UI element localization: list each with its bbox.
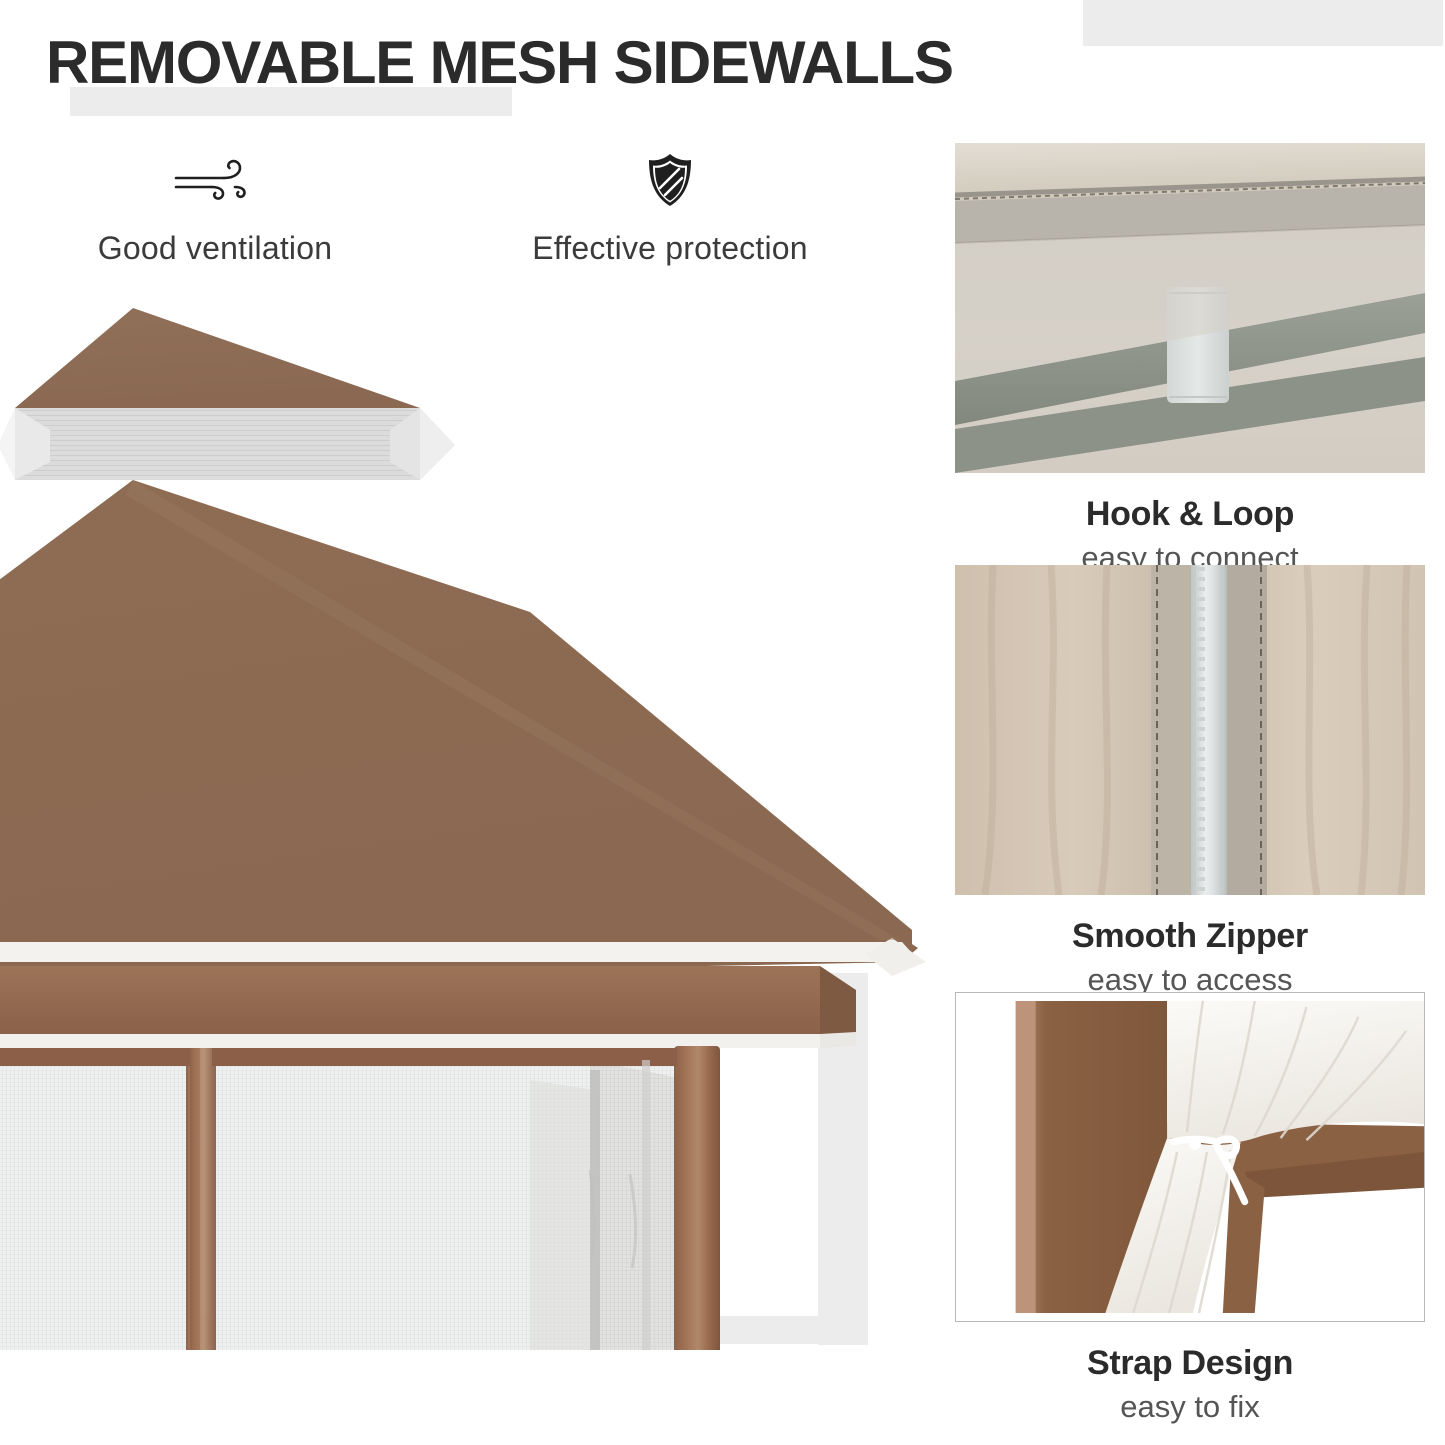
hook-and-loop-photo (955, 143, 1425, 473)
strap-design-photo (955, 992, 1425, 1322)
page-title: REMOVABLE MESH SIDEWALLS (46, 28, 953, 97)
card-title: Strap Design (955, 1344, 1425, 1383)
gazebo-illustration (0, 290, 950, 1350)
feature-item-protection: Effective protection (505, 152, 835, 267)
decorative-block-top-right (1083, 0, 1443, 46)
card-title: Hook & Loop (955, 495, 1425, 534)
card-title: Smooth Zipper (955, 917, 1425, 956)
feature-label: Effective protection (505, 230, 835, 267)
feature-item-ventilation: Good ventilation (50, 152, 380, 267)
detail-card-hook-loop: Hook & Loop easy to connect (955, 143, 1425, 576)
detail-card-smooth-zipper: Smooth Zipper easy to access (955, 565, 1425, 998)
feature-label: Good ventilation (50, 230, 380, 267)
wind-icon (50, 152, 380, 208)
detail-card-strap-design: Strap Design easy to fix (955, 992, 1425, 1425)
smooth-zipper-photo (955, 565, 1425, 895)
shield-icon (505, 152, 835, 208)
product-feature-graphic: REMOVABLE MESH SIDEWALLS Good ventilatio… (0, 0, 1445, 1445)
card-subtitle: easy to fix (955, 1389, 1425, 1425)
